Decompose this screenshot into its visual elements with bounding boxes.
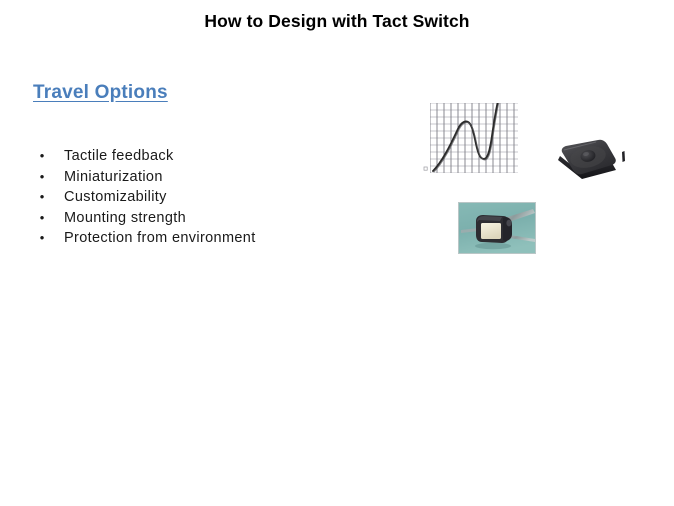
list-item-label: Miniaturization <box>64 167 163 188</box>
list-item: • Protection from environment <box>33 228 373 249</box>
page-title: How to Design with Tact Switch <box>0 10 674 32</box>
force-travel-curve-graph <box>422 98 522 180</box>
bullet-point-icon: • <box>37 146 47 167</box>
list-item: • Tactile feedback <box>33 146 373 167</box>
slide-canvas: How to Design with Tact Switch Travel Op… <box>0 0 674 506</box>
bullet-point-icon: • <box>37 167 47 188</box>
list-item-label: Protection from environment <box>64 228 256 249</box>
list-item: • Customizability <box>33 187 373 208</box>
tact-switch-photograph <box>458 202 536 254</box>
bullet-point-icon: • <box>37 187 47 208</box>
list-item-label: Mounting strength <box>64 208 186 229</box>
list-item: • Miniaturization <box>33 167 373 188</box>
section-heading-travel-options: Travel Options <box>33 82 168 104</box>
tact-switch-3d-render <box>552 134 632 190</box>
bullet-point-icon: • <box>37 228 47 249</box>
bullet-list: • Tactile feedback • Miniaturization • C… <box>33 146 373 249</box>
bullet-point-icon: • <box>37 208 47 229</box>
list-item-label: Customizability <box>64 187 167 208</box>
list-item-label: Tactile feedback <box>64 146 174 167</box>
list-item: • Mounting strength <box>33 208 373 229</box>
